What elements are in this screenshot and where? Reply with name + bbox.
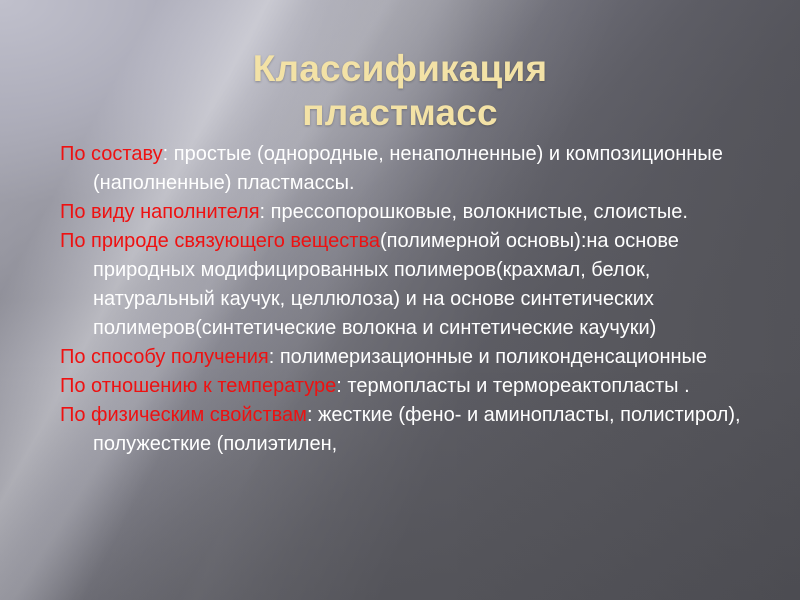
slide-title-line-1: Классификация	[0, 47, 800, 91]
bullet-paragraph-5: По отношению к температуре: термопласты …	[60, 372, 760, 401]
bullet-lead-4: По способу получения	[60, 346, 269, 368]
bullet-rest-5: : термопласты и термореактопласты .	[336, 375, 689, 397]
bullet-paragraph-4: По способу получения: полимеризационные …	[60, 343, 760, 372]
bullet-rest-2: : прессопорошковые, волокнистые, слоисты…	[260, 201, 688, 223]
bullet-paragraph-6: По физическим свойствам: жесткие (фено- …	[60, 401, 760, 459]
slide-body: По составу: простые (однородные, ненапол…	[60, 140, 760, 459]
bullet-lead-2: По виду наполнителя	[60, 201, 260, 223]
slide-title: Классификация пластмасс	[0, 47, 800, 135]
bullet-rest-1: : простые (однородные, ненаполненные) и …	[93, 143, 723, 194]
slide-title-line-2: пластмасс	[0, 91, 800, 135]
bullet-paragraph-2: По виду наполнителя: прессопорошковые, в…	[60, 198, 760, 227]
bullet-lead-6: По физическим свойствам	[60, 404, 307, 426]
bullet-lead-3: По природе связующего вещества	[60, 230, 380, 252]
bullet-rest-4: : полимеризационные и поликонденсационны…	[269, 346, 707, 368]
bullet-lead-5: По отношению к температуре	[60, 375, 336, 397]
bullet-paragraph-3: По природе связующего вещества(полимерно…	[60, 227, 760, 343]
bullet-lead-1: По составу	[60, 143, 163, 165]
bullet-paragraph-1: По составу: простые (однородные, ненапол…	[60, 140, 760, 198]
presentation-slide: Классификация пластмасс По составу: прос…	[0, 0, 800, 600]
